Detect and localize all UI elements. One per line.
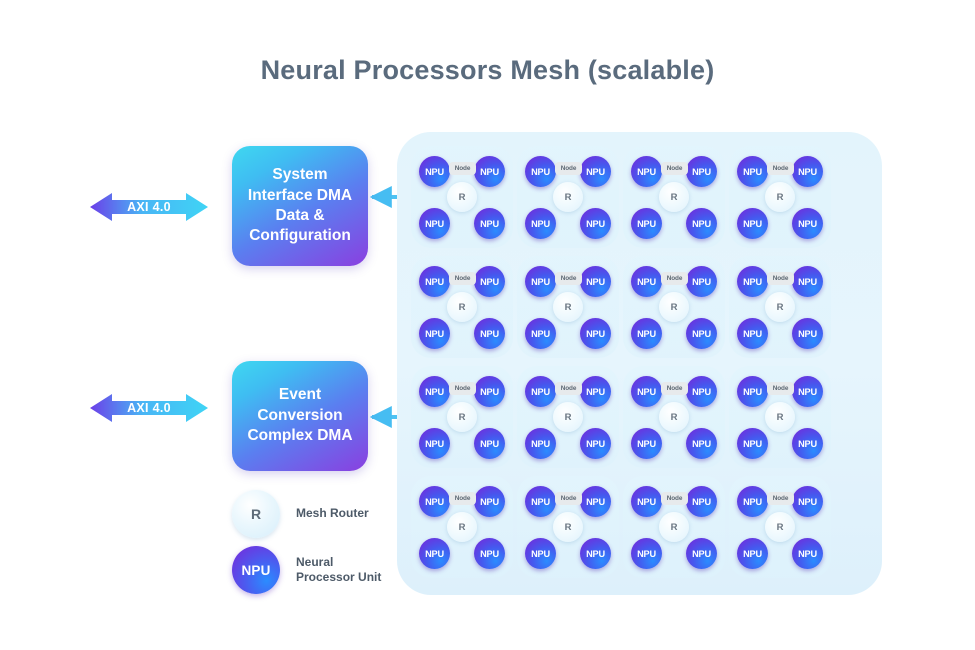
npu-unit[interactable]: NPU <box>419 156 450 187</box>
npu-unit[interactable]: NPU <box>686 318 717 349</box>
npu-unit[interactable]: NPU <box>580 428 611 459</box>
page-title: Neural Processors Mesh (scalable) <box>0 55 975 86</box>
npu-unit[interactable]: NPU <box>474 538 505 569</box>
mesh-router[interactable]: R <box>447 512 477 542</box>
mesh-node[interactable]: NPUNPUNPUNPUNodeR <box>517 366 619 468</box>
event-conversion-dma-block[interactable]: Event Conversion Complex DMA <box>232 361 368 471</box>
npu-unit[interactable]: NPU <box>419 538 450 569</box>
npu-unit[interactable]: NPU <box>737 318 768 349</box>
npu-unit[interactable]: NPU <box>474 486 505 517</box>
node-chip-label: Node <box>661 382 688 395</box>
npu-unit[interactable]: NPU <box>631 156 662 187</box>
npu-unit[interactable]: NPU <box>474 376 505 407</box>
node-chip-label: Node <box>661 162 688 175</box>
npu-unit[interactable]: NPU <box>525 486 556 517</box>
system-interface-dma-block[interactable]: System Interface DMA Data & Configuratio… <box>232 146 368 266</box>
npu-unit[interactable]: NPU <box>525 266 556 297</box>
mesh-router[interactable]: R <box>659 512 689 542</box>
npu-unit[interactable]: NPU <box>580 318 611 349</box>
npu-unit[interactable]: NPU <box>419 318 450 349</box>
npu-unit[interactable]: NPU <box>737 486 768 517</box>
mesh-router[interactable]: R <box>447 182 477 212</box>
node-chip-label: Node <box>767 162 794 175</box>
diagram-canvas: Neural Processors Mesh (scalable) <box>0 0 975 650</box>
mesh-node[interactable]: NPUNPUNPUNPUNodeR <box>411 476 513 578</box>
npu-unit[interactable]: NPU <box>631 428 662 459</box>
npu-unit[interactable]: NPU <box>737 428 768 459</box>
node-chip-label: Node <box>555 492 582 505</box>
npu-unit[interactable]: NPU <box>580 208 611 239</box>
npu-unit[interactable]: NPU <box>419 376 450 407</box>
node-chip-label: Node <box>555 382 582 395</box>
npu-unit[interactable]: NPU <box>737 266 768 297</box>
npu-unit[interactable]: NPU <box>686 266 717 297</box>
node-chip-label: Node <box>449 162 476 175</box>
npu-unit[interactable]: NPU <box>792 376 823 407</box>
npu-unit[interactable]: NPU <box>631 208 662 239</box>
npu-unit[interactable]: NPU <box>580 156 611 187</box>
node-chip-label: Node <box>661 272 688 285</box>
npu-unit[interactable]: NPU <box>580 486 611 517</box>
npu-unit[interactable]: NPU <box>525 156 556 187</box>
node-chip-label: Node <box>555 162 582 175</box>
legend-item-npu: NPU Neural Processor Unit <box>232 546 381 594</box>
npu-unit[interactable]: NPU <box>419 428 450 459</box>
mesh-router[interactable]: R <box>553 182 583 212</box>
npu-unit[interactable]: NPU <box>580 538 611 569</box>
mesh-node[interactable]: NPUNPUNPUNPUNodeR <box>623 476 725 578</box>
axi-arrow-top: AXI 4.0 <box>90 190 208 224</box>
mesh-node[interactable]: NPUNPUNPUNPUNodeR <box>517 476 619 578</box>
mesh-node[interactable]: NPUNPUNPUNPUNodeR <box>623 146 725 248</box>
npu-unit[interactable]: NPU <box>525 538 556 569</box>
npu-unit[interactable]: NPU <box>525 208 556 239</box>
npu-unit[interactable]: NPU <box>792 156 823 187</box>
mesh-router[interactable]: R <box>765 182 795 212</box>
node-chip-label: Node <box>555 272 582 285</box>
mesh-node[interactable]: NPUNPUNPUNPUNodeR <box>623 366 725 468</box>
npu-unit[interactable]: NPU <box>474 156 505 187</box>
npu-unit[interactable]: NPU <box>525 376 556 407</box>
mesh-router[interactable]: R <box>659 182 689 212</box>
npu-unit[interactable]: NPU <box>580 266 611 297</box>
mesh-node[interactable]: NPUNPUNPUNPUNodeR <box>729 476 831 578</box>
npu-unit[interactable]: NPU <box>686 538 717 569</box>
mesh-router[interactable]: R <box>553 512 583 542</box>
npu-unit[interactable]: NPU <box>631 538 662 569</box>
npu-unit[interactable]: NPU <box>419 266 450 297</box>
npu-unit[interactable]: NPU <box>737 156 768 187</box>
npu-unit[interactable]: NPU <box>686 428 717 459</box>
npu-unit[interactable]: NPU <box>631 486 662 517</box>
npu-unit[interactable]: NPU <box>474 208 505 239</box>
npu-unit[interactable]: NPU <box>792 428 823 459</box>
mesh-router[interactable]: R <box>447 402 477 432</box>
legend-item-mesh-router: R Mesh Router <box>232 490 369 538</box>
npu-unit[interactable]: NPU <box>419 208 450 239</box>
npu-unit[interactable]: NPU <box>525 428 556 459</box>
npu-unit[interactable]: NPU <box>631 376 662 407</box>
npu-unit[interactable]: NPU <box>686 156 717 187</box>
mesh-node[interactable]: NPUNPUNPUNPUNodeR <box>411 256 513 358</box>
npu-unit[interactable]: NPU <box>525 318 556 349</box>
npu-unit[interactable]: NPU <box>737 538 768 569</box>
mesh-router[interactable]: R <box>765 292 795 322</box>
router-icon: R <box>232 490 280 538</box>
node-chip-label: Node <box>449 492 476 505</box>
mesh-node[interactable]: NPUNPUNPUNPUNodeR <box>411 146 513 248</box>
node-chip-label: Node <box>661 492 688 505</box>
npu-unit[interactable]: NPU <box>737 208 768 239</box>
mesh-router[interactable]: R <box>553 292 583 322</box>
npu-unit[interactable]: NPU <box>631 266 662 297</box>
mesh-node[interactable]: NPUNPUNPUNPUNodeR <box>411 366 513 468</box>
npu-unit[interactable]: NPU <box>686 208 717 239</box>
mesh-router[interactable]: R <box>765 402 795 432</box>
mesh-router[interactable]: R <box>765 512 795 542</box>
npu-unit[interactable]: NPU <box>792 208 823 239</box>
npu-unit[interactable]: NPU <box>686 486 717 517</box>
mesh-node[interactable]: NPUNPUNPUNPUNodeR <box>517 256 619 358</box>
axi-arrow-bottom: AXI 4.0 <box>90 391 208 425</box>
npu-unit[interactable]: NPU <box>737 376 768 407</box>
legend-label-mesh-router: Mesh Router <box>296 506 369 521</box>
npu-unit[interactable]: NPU <box>792 538 823 569</box>
node-chip-label: Node <box>767 492 794 505</box>
node-chip-label: Node <box>449 272 476 285</box>
mesh-router[interactable]: R <box>659 402 689 432</box>
npu-unit[interactable]: NPU <box>792 318 823 349</box>
node-chip-label: Node <box>767 382 794 395</box>
mesh-node[interactable]: NPUNPUNPUNPUNodeR <box>623 256 725 358</box>
mesh-router[interactable]: R <box>659 292 689 322</box>
npu-unit[interactable]: NPU <box>686 376 717 407</box>
mesh-node[interactable]: NPUNPUNPUNPUNodeR <box>729 366 831 468</box>
npu-unit[interactable]: NPU <box>792 486 823 517</box>
npu-unit[interactable]: NPU <box>580 376 611 407</box>
npu-unit[interactable]: NPU <box>792 266 823 297</box>
node-chip-label: Node <box>767 272 794 285</box>
npu-unit[interactable]: NPU <box>631 318 662 349</box>
mesh-router[interactable]: R <box>553 402 583 432</box>
node-chip-label: Node <box>449 382 476 395</box>
npu-unit[interactable]: NPU <box>419 486 450 517</box>
legend-label-npu: Neural Processor Unit <box>296 555 381 586</box>
npu-icon: NPU <box>232 546 280 594</box>
mesh-node[interactable]: NPUNPUNPUNPUNodeR <box>729 256 831 358</box>
npu-unit[interactable]: NPU <box>474 318 505 349</box>
mesh-node[interactable]: NPUNPUNPUNPUNodeR <box>517 146 619 248</box>
mesh-router[interactable]: R <box>447 292 477 322</box>
npu-unit[interactable]: NPU <box>474 428 505 459</box>
mesh-node[interactable]: NPUNPUNPUNPUNodeR <box>729 146 831 248</box>
npu-unit[interactable]: NPU <box>474 266 505 297</box>
